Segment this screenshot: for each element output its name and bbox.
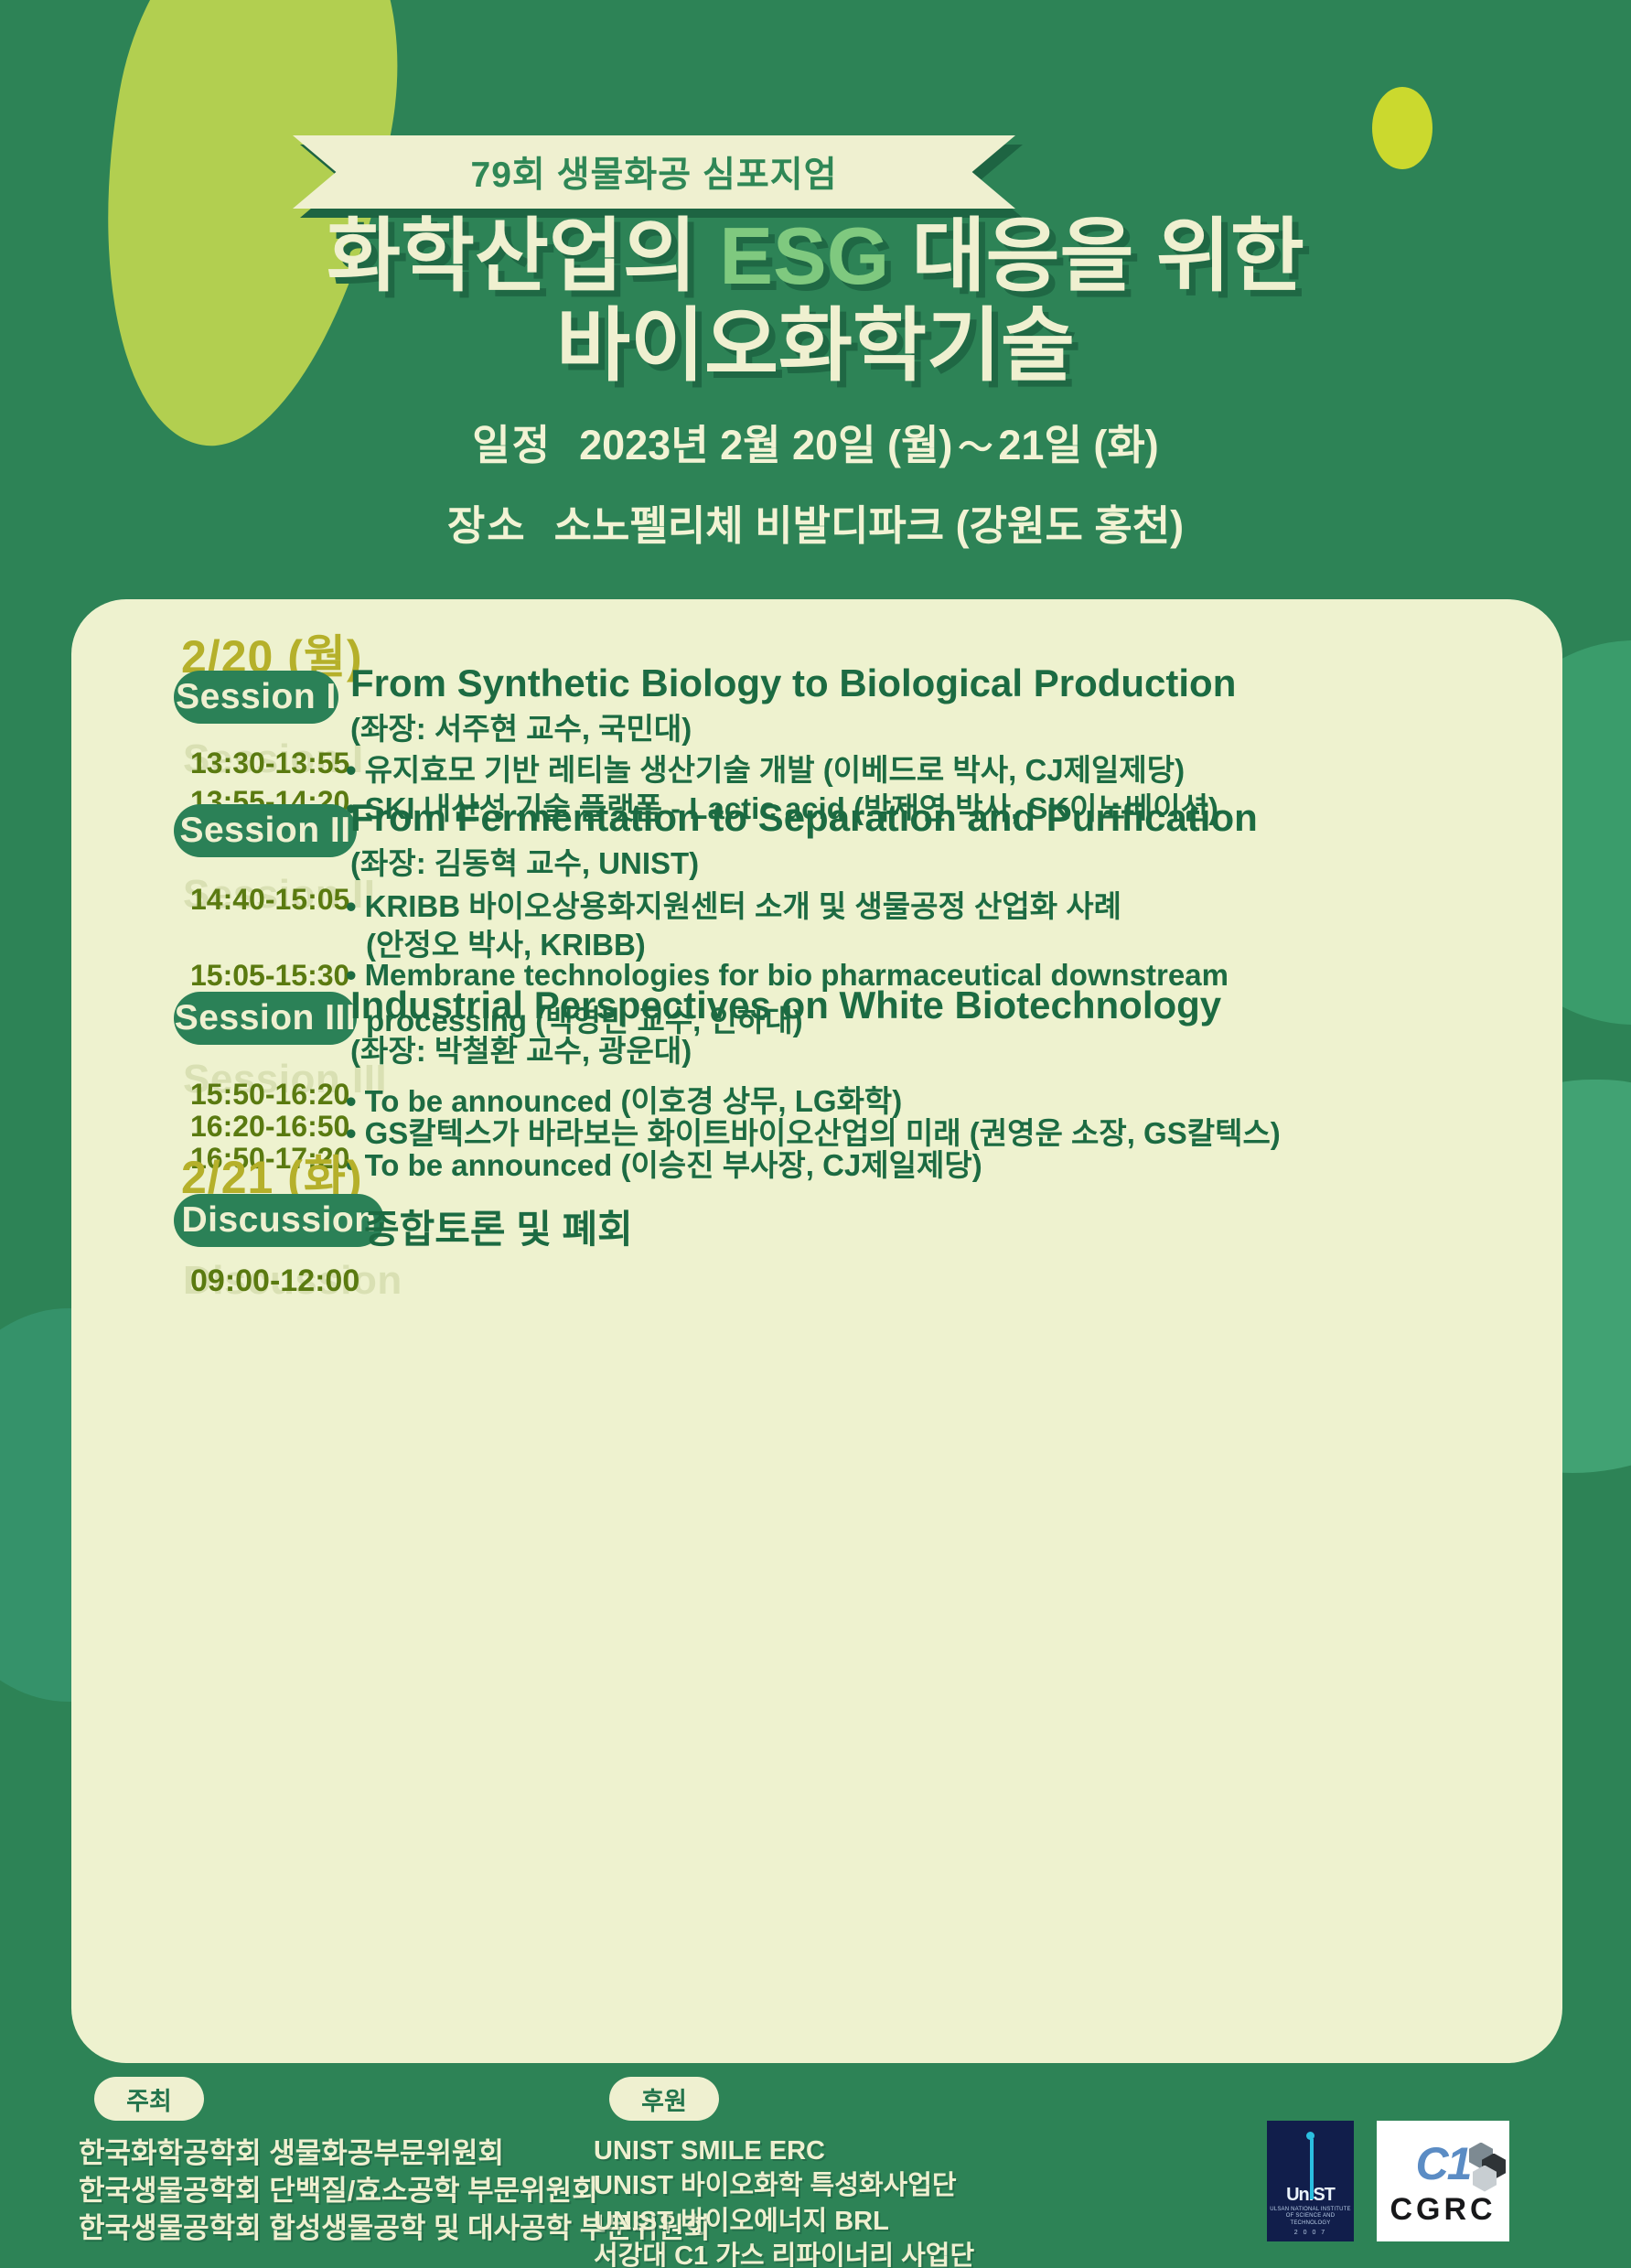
session-1-title: From Synthetic Biology to Biological Pro… — [350, 661, 1236, 705]
poster-root: 79회 생물화공 심포지엄 화학산업의 ESG 대응을 위한 바이오화학기술 일… — [0, 0, 1631, 2268]
talk-title: 유지효모 기반 레티놀 생산기술 개발 (이베드로 박사, CJ제일제당) — [365, 753, 1186, 787]
sponsor-item: UNIST 바이오화학 특성화사업단 — [594, 2168, 974, 2203]
session-2-talk-2-time: 15:05-15:30 — [190, 959, 349, 993]
page-title-line-1: 화학산업의 ESG 대응을 위한 — [0, 216, 1631, 296]
venue-value: 소노펠리체 비발디파크 (강원도 홍천) — [554, 502, 1184, 549]
symposium-edition-label: 79회 생물화공 심포지엄 — [471, 146, 838, 198]
date-value-start: 2023년 2월 20일 (월) — [579, 422, 952, 468]
date-label: 일정 — [472, 422, 552, 468]
organizer-pill: 주최 — [94, 2077, 204, 2121]
discussion-time: 09:00-12:00 — [190, 1263, 359, 1299]
ribbon-body: 79회 생물화공 심포지엄 — [293, 135, 1015, 209]
session-3-talk-3-text: •To be announced (이승진 부사장, CJ제일제당) — [346, 1141, 982, 1185]
cgrc-logo-mark: C1 — [1377, 2135, 1509, 2192]
sponsor-item: UNIST SMILE ERC — [594, 2134, 974, 2168]
event-venue-row: 장소소노펠리체 비발디파크 (강원도 홍천) — [0, 492, 1631, 552]
cgrc-logo: C1 CGRC — [1377, 2121, 1509, 2241]
venue-label: 장소 — [447, 502, 527, 549]
sponsor-item: UNIST 바이오에너지 BRL — [594, 2204, 974, 2239]
bullet-icon: • — [346, 889, 357, 923]
discussion-title: 종합토론 및 폐회 — [364, 1198, 633, 1254]
ribbon-banner: 79회 생물화공 심포지엄 — [293, 135, 1015, 209]
session-3-talk-2-time: 16:20-16:50 — [190, 1110, 349, 1144]
session-1-talk-1-time: 13:30-13:55 — [190, 747, 349, 780]
session-2-talk-1-text: •KRIBB 바이오상용화지원센터 소개 및 생물공정 산업화 사례 — [346, 882, 1121, 926]
talk-title: KRIBB 바이오상용화지원센터 소개 및 생물공정 산업화 사례 — [365, 889, 1121, 923]
date-range-squiggle: 〜 — [958, 429, 993, 468]
title-part-post: 대응을 위한 — [889, 210, 1304, 301]
session-3-chair: (좌장: 박철환 교수, 광운대) — [350, 1027, 692, 1070]
session-3-talk-1-time: 15:50-16:20 — [190, 1078, 349, 1112]
session-2-talk-1-time: 14:40-15:05 — [190, 883, 349, 917]
session-3-title: Industrial Perspectives on White Biotech… — [350, 984, 1221, 1027]
sponsor-list: UNIST SMILE ERC UNIST 바이오화학 특성화사업단 UNIST… — [594, 2134, 974, 2268]
badge-session-2[interactable]: Session II — [174, 804, 357, 857]
title-esg-accent: ESG — [719, 210, 889, 301]
unist-subtitle: ULSAN NATIONAL INSTITUTE OF SCIENCE AND … — [1267, 2207, 1354, 2228]
badge-discussion[interactable]: Discussion — [174, 1194, 384, 1247]
unist-year: 2 0 0 7 — [1294, 2230, 1326, 2236]
cgrc-wordmark: CGRC — [1390, 2192, 1496, 2228]
sponsor-pill: 후원 — [609, 2077, 719, 2121]
session-1-talk-1-text: •유지효모 기반 레티놀 생산기술 개발 (이베드로 박사, CJ제일제당) — [346, 746, 1185, 790]
badge-session-1[interactable]: Session I — [174, 671, 338, 724]
sponsor-item: 서강대 C1 가스 리파이너리 사업단 — [594, 2239, 974, 2268]
session-2-title: From Fermentation to Separation and Puri… — [350, 796, 1258, 840]
bullet-icon: • — [346, 753, 357, 787]
cgrc-c1-text: C1 — [1416, 2137, 1471, 2190]
page-title-line-2: 바이오화학기술 — [0, 306, 1631, 386]
decor-dot-top-right — [1372, 87, 1432, 169]
unist-stem-icon — [1310, 2139, 1314, 2199]
event-date-row: 일정2023년 2월 20일 (월)〜21일 (화) — [0, 412, 1631, 471]
title-part-pre: 화학산업의 — [327, 210, 719, 301]
date-value-end: 21일 (화) — [998, 422, 1158, 468]
badge-session-3[interactable]: Session III — [174, 992, 357, 1045]
unist-logo: UniST ULSAN NATIONAL INSTITUTE OF SCIENC… — [1267, 2121, 1354, 2241]
footer: 주최 한국화학공학회 생물화공부문위원회 한국생물공학회 단백질/효소공학 부문… — [0, 2077, 1631, 2268]
session-2-chair: (좌장: 김동혁 교수, UNIST) — [350, 839, 699, 883]
schedule-card: 2/20 (월) Session I Session I From Synthe… — [71, 599, 1562, 2063]
session-1-chair: (좌장: 서주현 교수, 국민대) — [350, 704, 692, 748]
talk-title: To be announced (이승진 부사장, CJ제일제당) — [365, 1148, 982, 1182]
